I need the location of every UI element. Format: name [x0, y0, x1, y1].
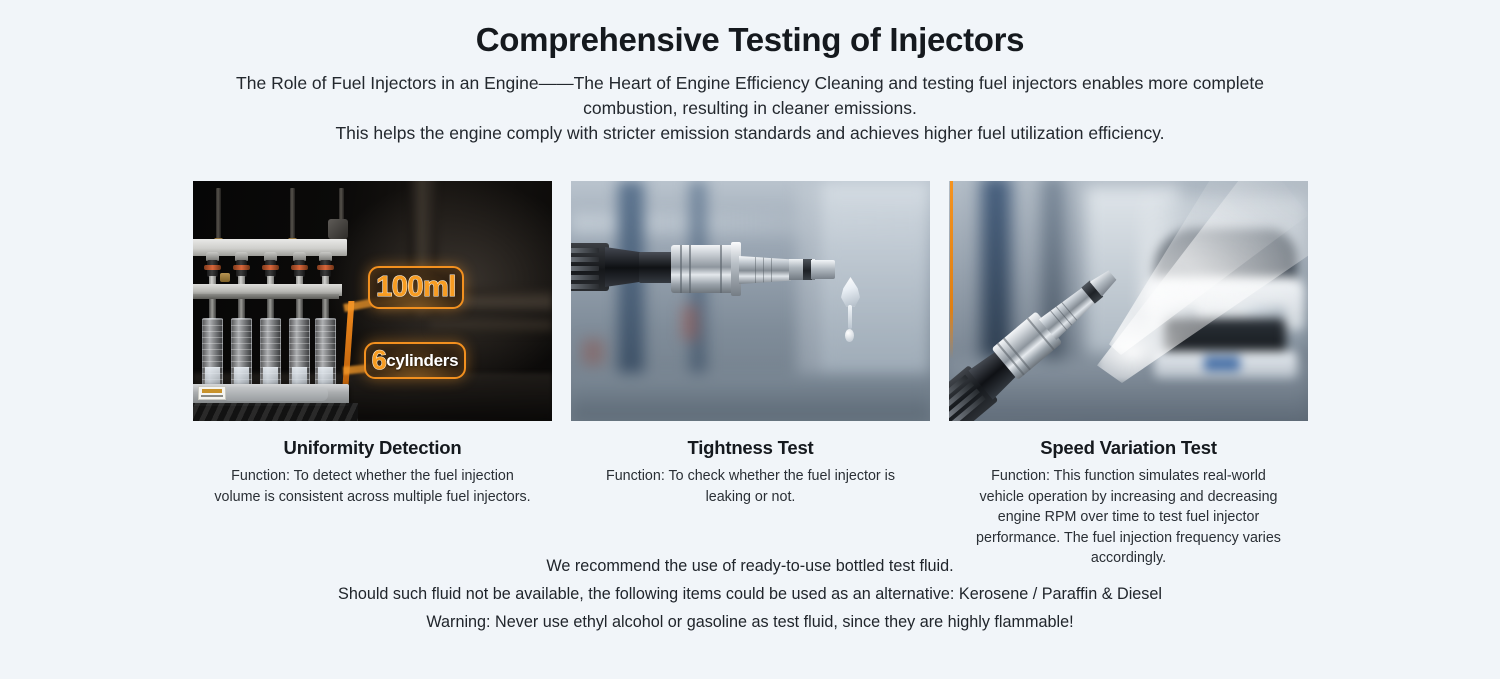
- bench-connector-block-icon: [328, 219, 348, 239]
- card-title: Uniformity Detection: [193, 437, 552, 459]
- injector-finned-connector-icon: [571, 243, 609, 291]
- feature-cards-row: 100 ml 6 cylinders Uniformity Detection …: [193, 181, 1307, 569]
- bench-base-tray-insert: [223, 387, 328, 401]
- subtitle-line-2: This helps the engine comply with strict…: [200, 121, 1300, 146]
- badge-volume-value: 100: [376, 273, 423, 302]
- blurred-background-layer: [571, 181, 930, 421]
- graduated-cylinder-icon: [289, 299, 310, 389]
- graduated-cylinder-icon: [260, 299, 281, 389]
- badge-cylinder-unit: cylinders: [386, 352, 458, 369]
- footer-notes: We recommend the use of ready-to-use bot…: [0, 558, 1500, 631]
- speed-variation-test-image: [949, 181, 1308, 421]
- injector-unit-icon: [233, 252, 250, 288]
- tightness-test-image: [571, 181, 930, 421]
- page-subtitle: The Role of Fuel Injectors in an Engine—…: [200, 71, 1300, 146]
- badge-cylinder-count: 6 cylinders: [364, 342, 466, 379]
- fuel-droplet-small-icon: [845, 329, 854, 342]
- badge-volume-100ml: 100 ml: [368, 266, 464, 309]
- footer-line-recommendation: We recommend the use of ready-to-use bot…: [0, 558, 1500, 574]
- badge-volume-unit: ml: [423, 273, 456, 302]
- injector-unit-icon: [291, 252, 308, 288]
- card-uniformity-detection: 100 ml 6 cylinders Uniformity Detection …: [193, 181, 552, 569]
- injector-chrome-barrel: [671, 245, 735, 293]
- test-bench-rod-icon: [216, 188, 221, 240]
- brass-fitting-icon: [220, 273, 230, 282]
- infographic-page: Comprehensive Testing of Injectors The R…: [0, 0, 1500, 679]
- injector-black-body: [639, 252, 673, 283]
- machine-label-sticker: [198, 386, 226, 400]
- background-pipe-secondary-icon: [430, 318, 552, 333]
- subtitle-line-1: The Role of Fuel Injectors in an Engine—…: [236, 73, 1264, 118]
- footer-line-warning: Warning: Never use ethyl alcohol or gaso…: [0, 614, 1500, 630]
- card-title: Tightness Test: [571, 437, 930, 459]
- injector-chrome-shaft: [739, 256, 791, 284]
- card-description: Function: To detect whether the fuel inj…: [193, 466, 552, 507]
- header: Comprehensive Testing of Injectors The R…: [0, 0, 1500, 146]
- image-orange-accent-stripe: [950, 181, 953, 359]
- page-title: Comprehensive Testing of Injectors: [0, 22, 1500, 58]
- card-description: Function: This function simulates real-w…: [949, 466, 1308, 569]
- injector-unit-icon: [317, 252, 334, 288]
- graduated-cylinder-icon: [315, 299, 336, 389]
- injector-unit-icon: [204, 252, 221, 288]
- uniformity-detection-image: 100 ml 6 cylinders: [193, 181, 552, 421]
- card-speed-variation-test: Speed Variation Test Function: This func…: [949, 181, 1308, 569]
- badge-cylinder-value: 6: [372, 347, 387, 374]
- graduated-cylinder-icon: [231, 299, 252, 389]
- spray-mist-haze: [1139, 181, 1308, 311]
- test-bench-rod-icon: [290, 188, 295, 240]
- injector-taper: [605, 247, 641, 287]
- card-description: Function: To check whether the fuel inje…: [571, 466, 930, 507]
- graduated-cylinder-icon: [202, 299, 223, 389]
- card-tightness-test: Tightness Test Function: To check whethe…: [571, 181, 930, 569]
- injector-unit-icon: [262, 252, 279, 288]
- card-title: Speed Variation Test: [949, 437, 1308, 459]
- footer-line-alternatives: Should such fluid not be available, the …: [0, 586, 1500, 602]
- bench-hatched-base: [193, 403, 358, 421]
- fuel-droplet-tail: [848, 305, 852, 329]
- injector-nozzle-tip: [811, 260, 835, 279]
